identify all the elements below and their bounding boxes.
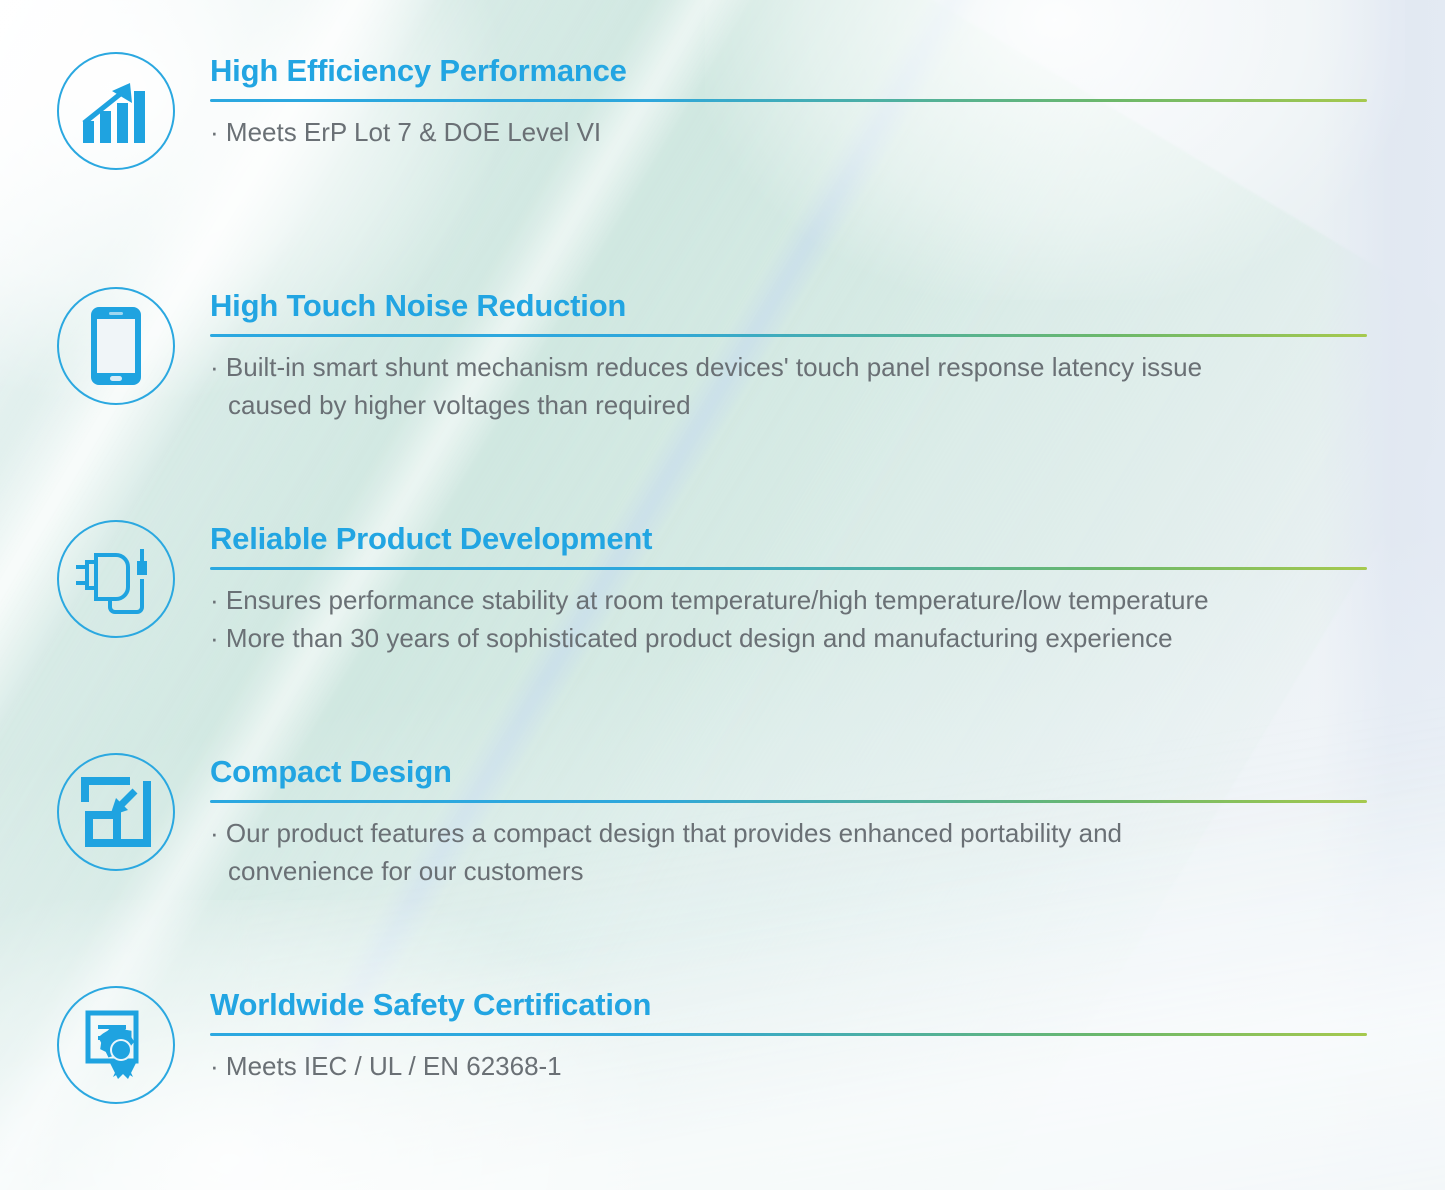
bar-chart-growth-icon <box>57 52 175 170</box>
feature-bullet-line: · More than 30 years of sophisticated pr… <box>210 619 1367 657</box>
feature-divider <box>210 1033 1367 1036</box>
feature-bullet-list: · Built-in smart shunt mechanism reduces… <box>210 348 1367 424</box>
smartphone-icon <box>57 287 175 405</box>
feature-title: High Touch Noise Reduction <box>210 290 1367 321</box>
feature-body: High Efficiency Performance · Meets ErP … <box>210 55 1367 151</box>
feature-bullet-list: · Meets ErP Lot 7 & DOE Level VI <box>210 113 1367 151</box>
certificate-award-icon <box>57 986 175 1104</box>
feature-title: Worldwide Safety Certification <box>210 989 1367 1020</box>
bullet-glyph: · <box>210 352 219 382</box>
feature-bullet-line: · Ensures performance stability at room … <box>210 581 1367 619</box>
feature-bullet-text: Our product features a compact design th… <box>226 818 1122 848</box>
feature-bullet-text-continuation: caused by higher voltages than required <box>210 386 1367 424</box>
bullet-glyph: · <box>210 1051 219 1081</box>
feature-divider <box>210 567 1367 570</box>
compact-resize-icon <box>57 753 175 871</box>
feature-bullet-line: · Meets ErP Lot 7 & DOE Level VI <box>210 113 1367 151</box>
feature-bullet-list: · Meets IEC / UL / EN 62368-1 <box>210 1047 1367 1085</box>
feature-body: Worldwide Safety Certification · Meets I… <box>210 989 1367 1085</box>
feature-bullet-line-continuation: caused by higher voltages than required <box>210 386 1367 424</box>
bullet-glyph: · <box>210 117 219 147</box>
feature-bullet-text: More than 30 years of sophisticated prod… <box>226 623 1173 653</box>
bullet-glyph: · <box>210 623 219 653</box>
feature-bullet-list: · Our product features a compact design … <box>210 814 1367 890</box>
feature-body: Reliable Product Development · Ensures p… <box>210 523 1367 657</box>
feature-bullet-line: · Our product features a compact design … <box>210 814 1367 852</box>
feature-bullet-line: · Meets IEC / UL / EN 62368-1 <box>210 1047 1367 1085</box>
feature-bullet-text: Meets ErP Lot 7 & DOE Level VI <box>226 117 601 147</box>
feature-bullet-text: Built-in smart shunt mechanism reduces d… <box>226 352 1202 382</box>
feature-bullet-list: · Ensures performance stability at room … <box>210 581 1367 657</box>
feature-bullet-text-continuation: convenience for our customers <box>210 852 1367 890</box>
feature-divider <box>210 800 1367 803</box>
feature-divider <box>210 99 1367 102</box>
feature-title: Compact Design <box>210 756 1367 787</box>
bullet-glyph: · <box>210 585 219 615</box>
power-adapter-icon <box>57 520 175 638</box>
feature-bullet-line-continuation: convenience for our customers <box>210 852 1367 890</box>
feature-title: Reliable Product Development <box>210 523 1367 554</box>
feature-body: High Touch Noise Reduction · Built-in sm… <box>210 290 1367 424</box>
feature-bullet-text: Meets IEC / UL / EN 62368-1 <box>226 1051 562 1081</box>
feature-body: Compact Design · Our product features a … <box>210 756 1367 890</box>
feature-list: High Efficiency Performance · Meets ErP … <box>0 0 1445 1190</box>
feature-bullet-text: Ensures performance stability at room te… <box>226 585 1209 615</box>
feature-title: High Efficiency Performance <box>210 55 1367 86</box>
feature-divider <box>210 334 1367 337</box>
feature-bullet-line: · Built-in smart shunt mechanism reduces… <box>210 348 1367 386</box>
bullet-glyph: · <box>210 818 219 848</box>
